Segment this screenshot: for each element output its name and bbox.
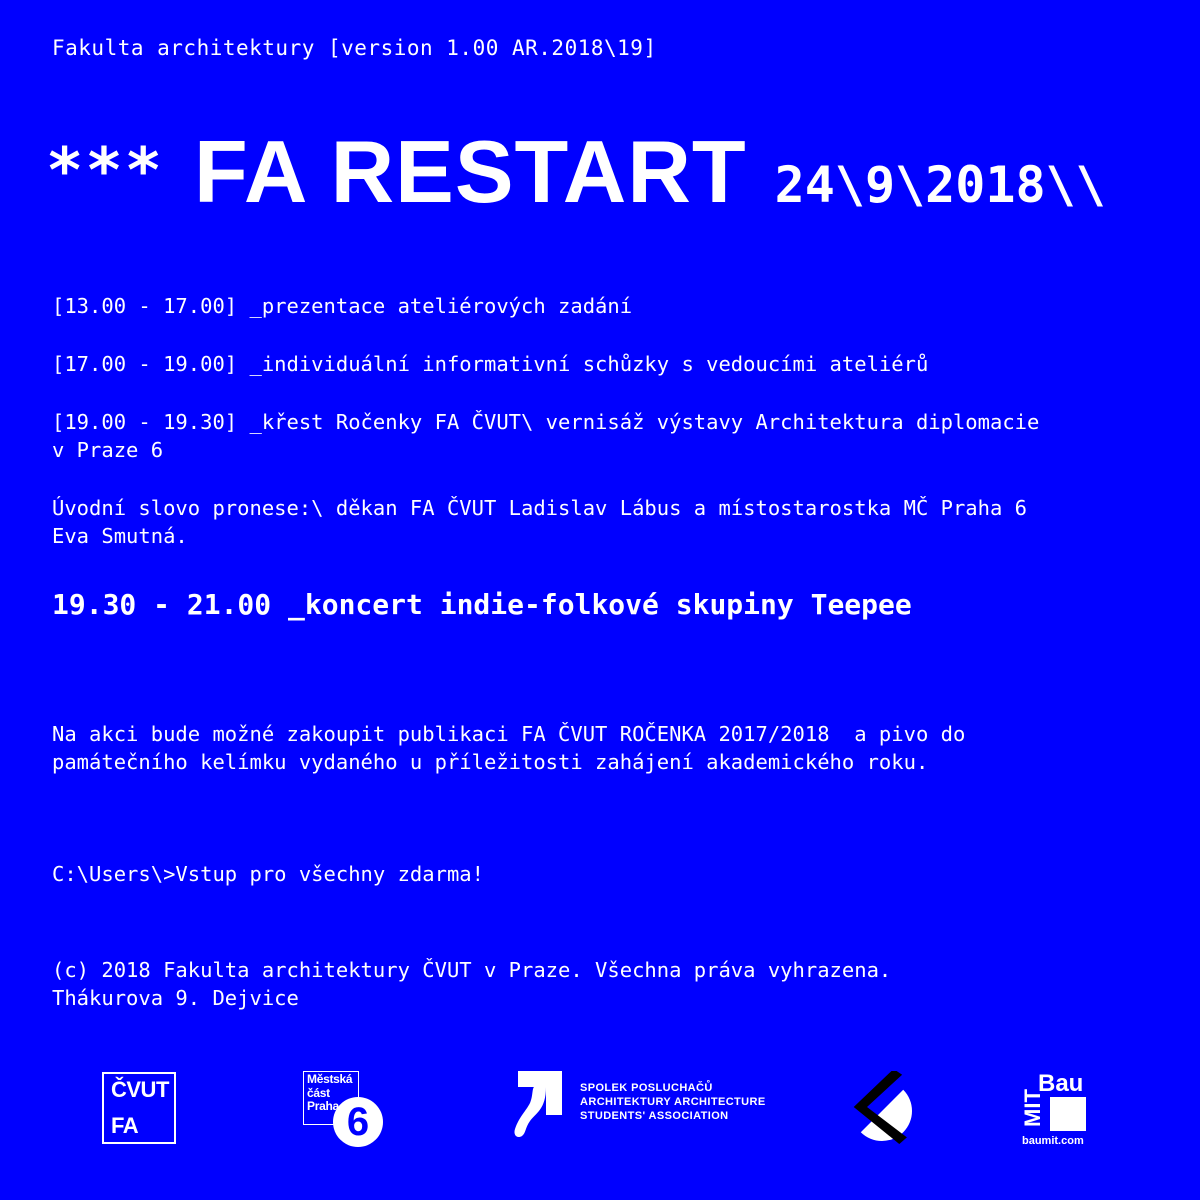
mestska-cast-praha-6-logo: Městská část Praha 6 [303, 1071, 377, 1149]
title-asterisks: *** [46, 140, 164, 202]
console-prompt-line: C:\Users\>Vstup pro všechny zdarma! [52, 860, 484, 888]
poster-title: *** FA RESTART 24\9\2018\\ [46, 128, 1106, 216]
praha6-number: 6 [333, 1097, 383, 1147]
spolek-posluchacu-architektury-logo: SPOLEK POSLUCHAČŮ ARCHITEKTURY ARCHITECT… [512, 1069, 812, 1149]
spa-arrow-icon [512, 1069, 568, 1139]
cvut-fa-logo: ČVUT FA [102, 1072, 176, 1144]
schedule-item-1: [13.00 - 17.00] _prezentace ateliérových… [52, 292, 632, 320]
baumit-mark: Bau MIT [1022, 1069, 1096, 1133]
title-date: 24\9\2018\\ [775, 160, 1106, 210]
purchase-notice: Na akci bude možné zakoupit publikaci FA… [52, 720, 965, 776]
baumit-url: baumit.com [1022, 1135, 1084, 1147]
concert-highlight: 19.30 - 21.00 _koncert indie-folkové sku… [52, 588, 912, 622]
spa-line-3: STUDENTS' ASSOCIATION [580, 1109, 766, 1123]
praha6-line-1: Městská [307, 1073, 352, 1087]
schedule-item-2: [17.00 - 19.00] _individuální informativ… [52, 350, 928, 378]
spa-wordmark: SPOLEK POSLUCHAČŮ ARCHITEKTURY ARCHITECT… [580, 1081, 766, 1123]
copyright-text: (c) 2018 Fakulta architektury ČVUT v Pra… [52, 956, 891, 1012]
schedule-item-3: [19.00 - 19.30] _křest Ročenky FA ČVUT\ … [52, 408, 1039, 464]
spa-line-1: SPOLEK POSLUCHAČŮ [580, 1081, 766, 1095]
poster-canvas: Fakulta architektury [version 1.00 AR.20… [0, 0, 1200, 1200]
spa-line-2: ARCHITEKTURY ARCHITECTURE [580, 1095, 766, 1109]
title-main-text: FA RESTART [194, 128, 747, 216]
black-chevron-logo [840, 1071, 920, 1149]
svg-text:MIT: MIT [1022, 1089, 1045, 1127]
baumit-logo: Bau MIT baumit.com [1022, 1069, 1112, 1155]
version-header: Fakulta architektury [version 1.00 AR.20… [52, 36, 657, 60]
cvut-label: ČVUT [111, 1077, 169, 1103]
intro-speech-text: Úvodní slovo pronese:\ děkan FA ČVUT Lad… [52, 494, 1027, 550]
fa-label: FA [111, 1114, 138, 1138]
sponsor-logo-strip: ČVUT FA Městská část Praha 6 SPOLEK [0, 1055, 1200, 1165]
